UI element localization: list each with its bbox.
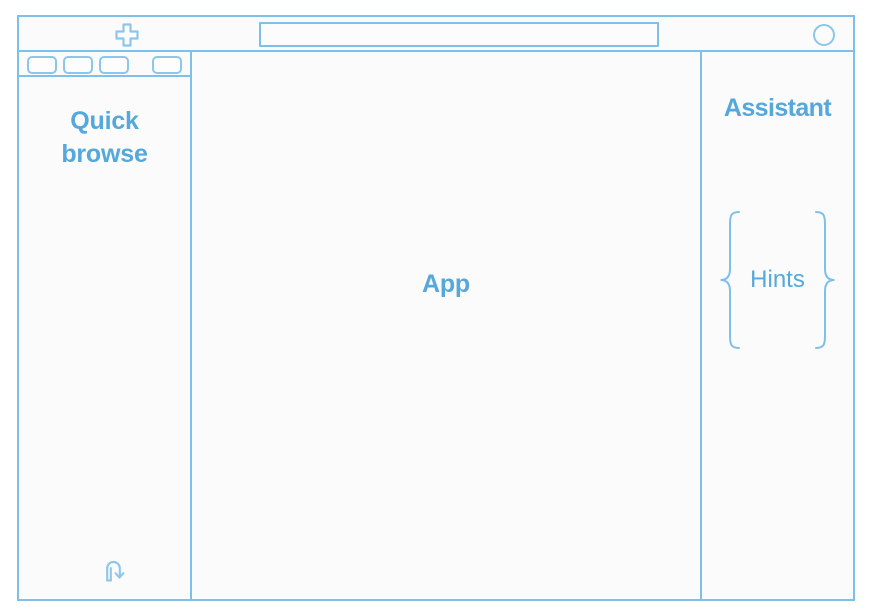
left-curly-brace-icon — [717, 209, 743, 351]
circle-avatar-icon[interactable] — [812, 23, 836, 47]
circle-avatar-icon-glyph — [812, 23, 836, 47]
window-body: Quick browse App Assistant — [19, 52, 853, 599]
wireframe-window: Quick browse App Assistant — [17, 15, 855, 601]
quick-browse-title: Quick browse — [19, 105, 190, 171]
sidebar-tab-strip — [19, 52, 190, 77]
quick-browse-title-line-2: browse — [19, 138, 190, 171]
app-label: App — [192, 270, 700, 299]
assistant-title: Assistant — [702, 94, 853, 123]
u-turn-arrow-icon-glyph — [99, 555, 129, 585]
tab-chip-icon[interactable] — [63, 56, 93, 74]
tab-chip-icon[interactable] — [27, 56, 57, 74]
plus-icon[interactable] — [98, 19, 156, 50]
assistant-panel: Assistant Hints — [702, 52, 853, 599]
sidebar-panel: Quick browse — [19, 52, 192, 599]
plus-icon-glyph — [114, 22, 140, 48]
sidebar-content: Quick browse — [19, 77, 190, 599]
top-toolbar — [19, 17, 853, 52]
address-bar-input[interactable] — [259, 22, 659, 47]
hints-label: Hints — [743, 266, 812, 294]
app-canvas[interactable]: App — [192, 52, 702, 599]
hints-block: Hints — [702, 207, 853, 352]
u-turn-arrow-icon[interactable] — [97, 553, 131, 587]
tab-chip-icon[interactable] — [152, 56, 182, 74]
tab-chip-icon[interactable] — [99, 56, 129, 74]
right-curly-brace-icon — [812, 209, 838, 351]
quick-browse-title-line-1: Quick — [19, 105, 190, 138]
